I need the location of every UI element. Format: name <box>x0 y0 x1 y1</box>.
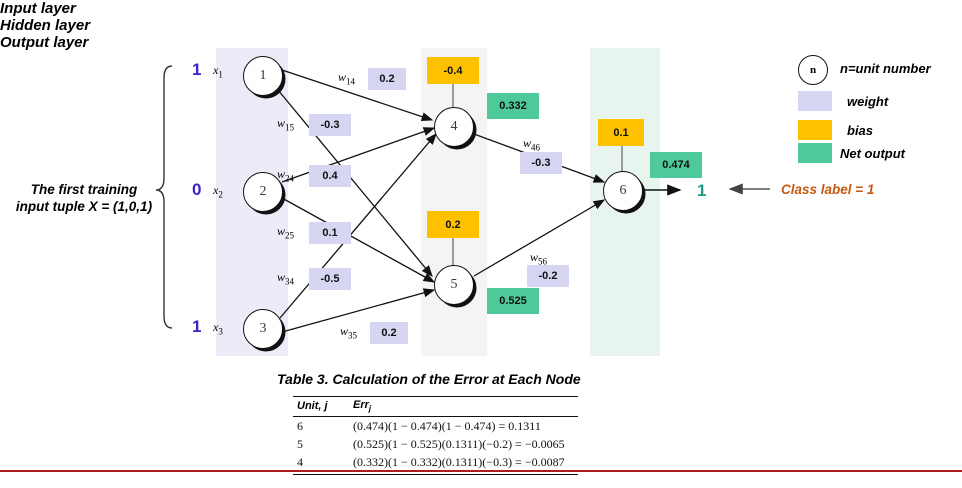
table-header-row: Unit, j Errj <box>293 397 578 417</box>
weight-label-w24: w24 <box>277 167 294 183</box>
weight-subscript: 15 <box>285 122 294 132</box>
net-output-node-5[interactable]: 0.525 <box>487 288 539 314</box>
input-x-label-2: x2 <box>213 183 223 199</box>
input-bit-3: 1 <box>192 317 201 337</box>
weight-subscript: 24 <box>285 173 294 183</box>
weight-box-w15[interactable]: -0.3 <box>309 114 351 136</box>
err-subscript: j <box>369 404 371 413</box>
net-output-node-4[interactable]: 0.332 <box>487 93 539 119</box>
err-symbol: Err <box>353 399 369 411</box>
input-node-3[interactable]: 3 <box>243 309 283 349</box>
legend-weight-swatch <box>798 91 832 111</box>
weight-symbol: w <box>277 224 285 238</box>
weight-box-w56[interactable]: -0.2 <box>527 265 569 287</box>
table-col-err: Errj <box>349 397 578 417</box>
weight-box-w25[interactable]: 0.1 <box>309 222 351 244</box>
weight-label-w14: w14 <box>338 70 355 86</box>
weight-label-w35: w35 <box>340 324 357 340</box>
weight-subscript: 35 <box>348 330 357 340</box>
bias-box-node-5[interactable]: 0.2 <box>427 211 479 238</box>
input-bit-2: 0 <box>192 180 201 200</box>
weight-symbol: w <box>530 250 538 264</box>
x-subscript: 1 <box>218 69 223 79</box>
table-col-unit: Unit, j <box>293 397 349 417</box>
weight-symbol: w <box>340 324 348 338</box>
table-row: 6 (0.474)(1 − 0.474)(1 − 0.474) = 0.1311 <box>293 417 578 436</box>
weight-symbol: w <box>277 116 285 130</box>
weight-symbol: w <box>338 70 346 84</box>
bias-box-node-4[interactable]: -0.4 <box>427 57 479 84</box>
weight-label-w15: w15 <box>277 116 294 132</box>
table-title: Table 3. Calculation of the Error at Eac… <box>277 371 581 387</box>
x-subscript: 2 <box>218 189 223 199</box>
weight-subscript: 46 <box>531 142 540 152</box>
error-table: Unit, j Errj 6 (0.474)(1 − 0.474)(1 − 0.… <box>293 396 578 475</box>
weight-box-w35[interactable]: 0.2 <box>370 322 408 344</box>
bottom-rule <box>0 470 962 472</box>
weight-label-w46: w46 <box>523 136 540 152</box>
table-cell-err: (0.474)(1 − 0.474)(1 − 0.474) = 0.1311 <box>349 417 578 436</box>
prediction-digit: 1 <box>697 181 706 201</box>
weight-subscript: 34 <box>285 276 294 286</box>
input-x-label-3: x3 <box>213 320 223 336</box>
weight-label-w34: w34 <box>277 270 294 286</box>
input-node-1[interactable]: 1 <box>243 56 283 96</box>
weight-symbol: w <box>277 270 285 284</box>
table-cell-unit: 5 <box>293 435 349 453</box>
legend-unit-text: n=unit number <box>840 61 931 76</box>
hidden-node-5[interactable]: 5 <box>434 265 474 305</box>
legend-net-swatch <box>798 143 832 163</box>
weight-box-w46[interactable]: -0.3 <box>520 152 562 174</box>
weight-symbol: w <box>277 167 285 181</box>
bias-box-node-6[interactable]: 0.1 <box>598 119 644 146</box>
legend-weight-text: weight <box>847 94 888 109</box>
weight-box-w34[interactable]: -0.5 <box>309 268 351 290</box>
class-label-text: Class label = 1 <box>781 182 874 197</box>
net-output-node-6[interactable]: 0.474 <box>650 152 702 178</box>
hidden-node-4[interactable]: 4 <box>434 107 474 147</box>
legend-unit-icon: n <box>798 55 828 85</box>
input-x-label-1: x1 <box>213 63 223 79</box>
legend-bias-text: bias <box>847 123 873 138</box>
output-node-6[interactable]: 6 <box>603 171 643 211</box>
table-row: 5 (0.525)(1 − 0.525)(0.1311)(−0.2) = −0.… <box>293 435 578 453</box>
tuple-caption-line1: The first training <box>31 182 138 197</box>
input-bit-1: 1 <box>192 60 201 80</box>
legend-net-text: Net output <box>840 146 905 161</box>
weight-subscript: 14 <box>346 76 355 86</box>
diagram-canvas: Input layer Hidden layer Output layer Th… <box>0 0 962 488</box>
weight-symbol: w <box>523 136 531 150</box>
weight-box-w14[interactable]: 0.2 <box>368 68 406 90</box>
tuple-caption-line2: input tuple X = (1,0,1) <box>16 199 152 214</box>
legend-bias-swatch <box>798 120 832 140</box>
weight-box-w24[interactable]: 0.4 <box>309 165 351 187</box>
table-cell-unit: 6 <box>293 417 349 436</box>
table-cell-err: (0.525)(1 − 0.525)(0.1311)(−0.2) = −0.00… <box>349 435 578 453</box>
training-tuple-caption: The first training input tuple X = (1,0,… <box>8 181 160 215</box>
x-subscript: 3 <box>218 326 223 336</box>
weight-subscript: 25 <box>285 230 294 240</box>
weight-label-w25: w25 <box>277 224 294 240</box>
weight-label-w56: w56 <box>530 250 547 266</box>
